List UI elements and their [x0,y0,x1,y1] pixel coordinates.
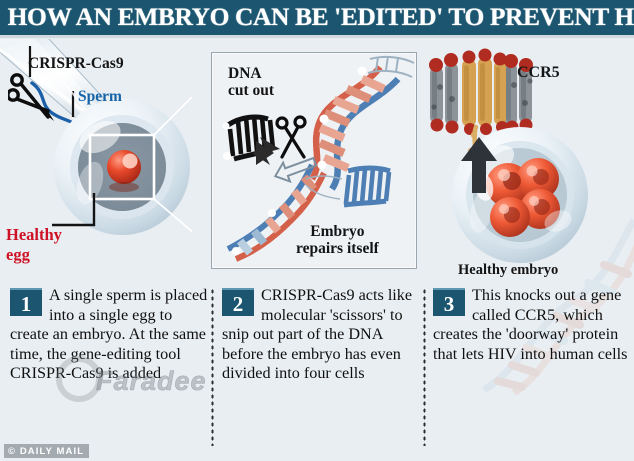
page-title: HOW AN EMBRYO CAN BE 'EDITED' TO PREVENT… [8,4,634,32]
label-sperm: Sperm [78,88,122,106]
arrow-up-icon [459,137,499,193]
step-number-2: 2 [222,288,254,316]
dna-repair-fragment [344,168,390,205]
egg-cell-icon [52,97,192,237]
step-block-2: 2 CRISPR-Cas9 acts like molecular 'sciss… [222,286,418,384]
label-healthy-egg: Healthy egg [6,225,62,265]
dna-detail-panel: DNA cut out Embryo repairs itself [211,52,417,269]
label-embryo-repairs: Embryo repairs itself [296,223,379,258]
watermark-faradee: Faradee [96,366,207,397]
illustration-area: CRISPR-Cas9 Sperm Healthy egg [0,41,634,285]
scissors-icon [274,115,314,161]
infographic-root: HOW AN EMBRYO CAN BE 'EDITED' TO PREVENT… [0,0,634,461]
label-crispr-cas9: CRISPR-Cas9 [28,55,124,73]
label-healthy-egg-line2: egg [6,245,62,265]
label-dna-cut-out: DNA cut out [228,65,274,100]
label-healthy-egg-line1: Healthy [6,225,62,245]
step-block-3: 3 This knocks out a gene called CCR5, wh… [433,286,629,364]
label-ccr5: CCR5 [517,64,560,82]
label-healthy-embryo: Healthy embryo [458,262,558,279]
scissors-icon [8,71,54,123]
label-embryo-repairs-line2: repairs itself [296,240,379,257]
credit-badge: © DAILY MAIL [4,444,89,458]
label-dna-cut-out-line1: DNA [228,65,274,82]
step-number-1: 1 [10,288,42,316]
label-dna-cut-out-line2: cut out [228,82,274,99]
step-number-3: 3 [433,288,465,316]
header-bar: HOW AN EMBRYO CAN BE 'EDITED' TO PREVENT… [0,0,634,38]
label-embryo-repairs-line1: Embryo [296,223,379,240]
